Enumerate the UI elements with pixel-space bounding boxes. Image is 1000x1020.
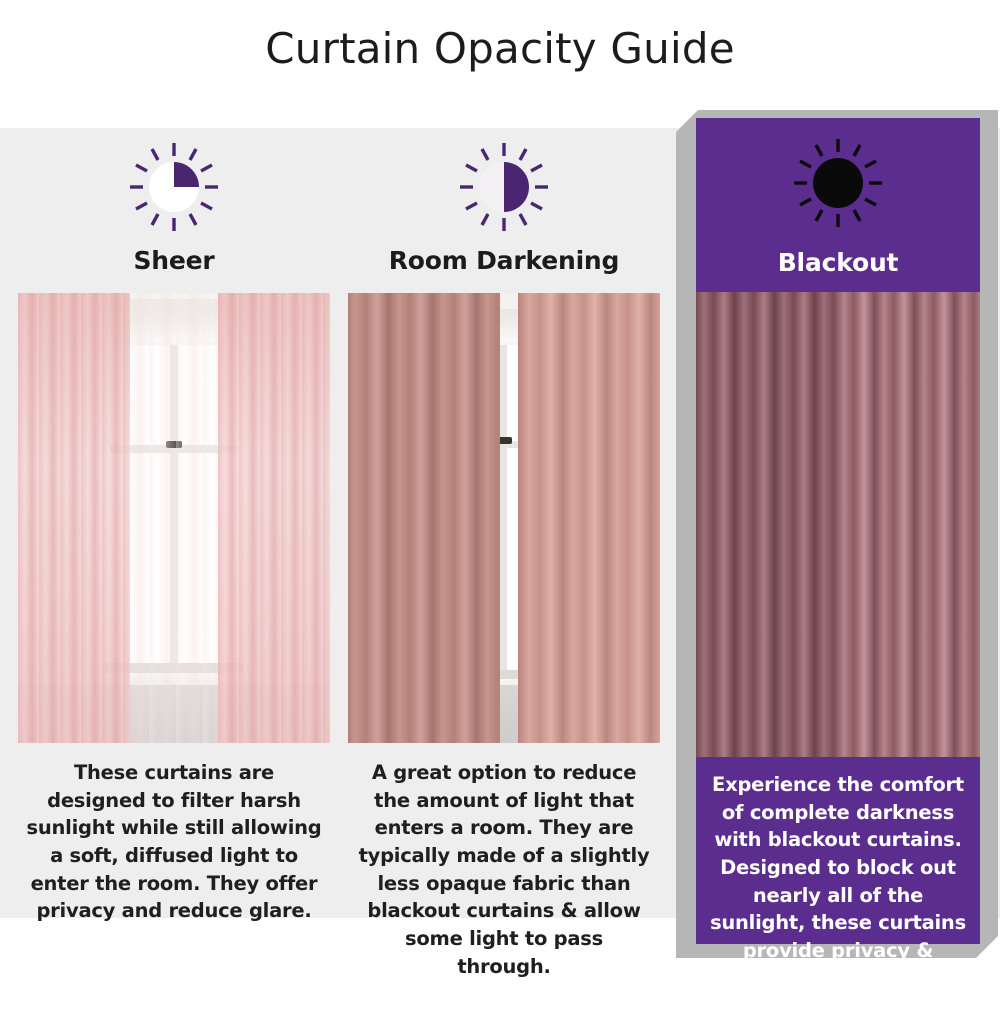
photo-blackout <box>696 292 980 757</box>
column-label-sheer: Sheer <box>18 246 330 275</box>
curtain-panel-left <box>348 293 500 743</box>
description-blackout: Experience the comfort of complete darkn… <box>696 771 980 1020</box>
photo-sheer <box>18 293 330 743</box>
curtain-panel-right <box>518 293 660 743</box>
page-title: Curtain Opacity Guide <box>0 24 1000 73</box>
column-label-room-darkening: Room Darkening <box>348 246 660 275</box>
sheer-overlay <box>122 293 226 743</box>
window-mullion-vertical <box>500 345 507 671</box>
description-sheer: These curtains are designed to filter ha… <box>18 759 330 925</box>
column-label-blackout: Blackout <box>696 248 980 277</box>
column-sheer[interactable]: Sheer These curtains are designed to fil… <box>18 128 330 928</box>
sun-full-filled-icon <box>696 118 980 248</box>
column-blackout[interactable]: Blackout Experience the comfort of compl… <box>696 118 980 944</box>
sun-quarter-filled-icon <box>18 128 330 246</box>
column-room-darkening[interactable]: Room Darkening A great option to reduce … <box>348 128 660 928</box>
photo-room-darkening <box>348 293 660 743</box>
sun-half-filled-icon <box>348 128 660 246</box>
curtain-panel-left <box>18 293 130 743</box>
curtain-panel-right <box>218 293 330 743</box>
description-room-darkening: A great option to reduce the amount of l… <box>348 759 660 981</box>
curtain-panel-right <box>834 292 980 757</box>
